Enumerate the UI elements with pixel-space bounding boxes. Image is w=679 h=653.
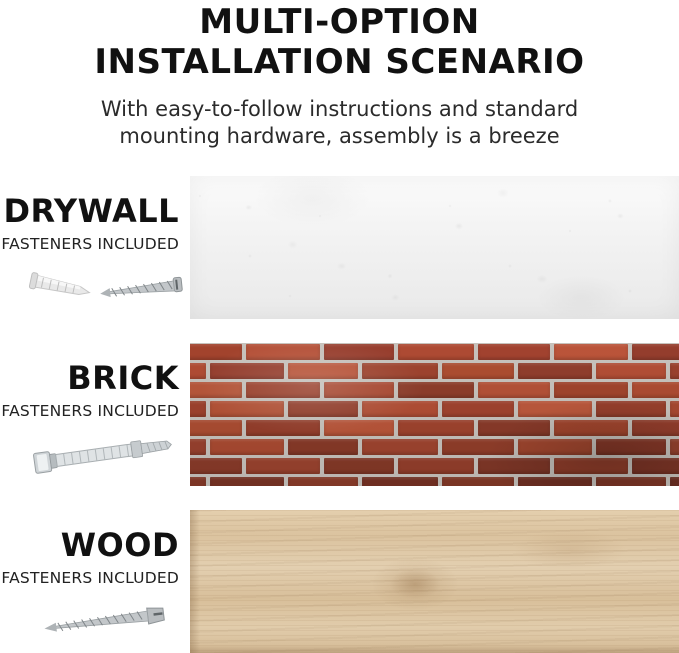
wood-screw-icon [42, 601, 172, 641]
row-brick-left: BRICK FASTENERS INCLUDED [0, 343, 185, 486]
row-drywall-label: DRYWALL [0, 176, 179, 228]
brick-texture [190, 343, 679, 486]
row-drywall-sub: FASTENERS INCLUDED [0, 235, 179, 253]
installation-scenario-infographic: { "header": { "title_line1": "MULTI-OPTI… [0, 0, 679, 643]
row-brick: BRICK FASTENERS INCLUDED [0, 343, 679, 486]
drywall-texture [190, 176, 679, 319]
wood-edge-bottom [190, 645, 679, 653]
row-drywall-surface [190, 176, 679, 319]
row-wood: WOOD FASTENERS INCLUDED [0, 510, 679, 653]
screw-icon [98, 269, 193, 309]
row-drywall: DRYWALL FASTENERS INCLUDED [0, 176, 679, 319]
row-wood-hardware [0, 593, 179, 645]
row-brick-sub: FASTENERS INCLUDED [0, 402, 179, 420]
row-wood-left: WOOD FASTENERS INCLUDED [0, 510, 185, 653]
wood-knot-primary [350, 544, 480, 624]
subtitle-line-2: mounting hardware, assembly is a breeze [0, 123, 679, 150]
wood-knot-secondary [490, 520, 650, 580]
page-title-line-1: MULTI-OPTION [0, 2, 679, 42]
row-wood-surface [190, 510, 679, 653]
header: MULTI-OPTION INSTALLATION SCENARIO With … [0, 0, 679, 150]
subtitle-line-1: With easy-to-follow instructions and sta… [0, 96, 679, 123]
row-wood-label: WOOD [0, 510, 179, 562]
row-drywall-left: DRYWALL FASTENERS INCLUDED [0, 176, 185, 319]
drywall-speckle [190, 176, 679, 319]
wood-edge-left [190, 510, 200, 653]
plastic-wall-anchor-icon [28, 267, 98, 307]
wood-texture [190, 510, 679, 653]
page-title-line-2: INSTALLATION SCENARIO [0, 42, 679, 82]
row-brick-label: BRICK [0, 343, 179, 395]
sleeve-anchor-bolt-icon [28, 432, 178, 476]
surface-rows: DRYWALL FASTENERS INCLUDED [0, 176, 679, 653]
row-brick-surface [190, 343, 679, 486]
row-drywall-hardware [0, 259, 179, 311]
row-brick-hardware [0, 426, 179, 478]
row-wood-sub: FASTENERS INCLUDED [0, 569, 179, 587]
